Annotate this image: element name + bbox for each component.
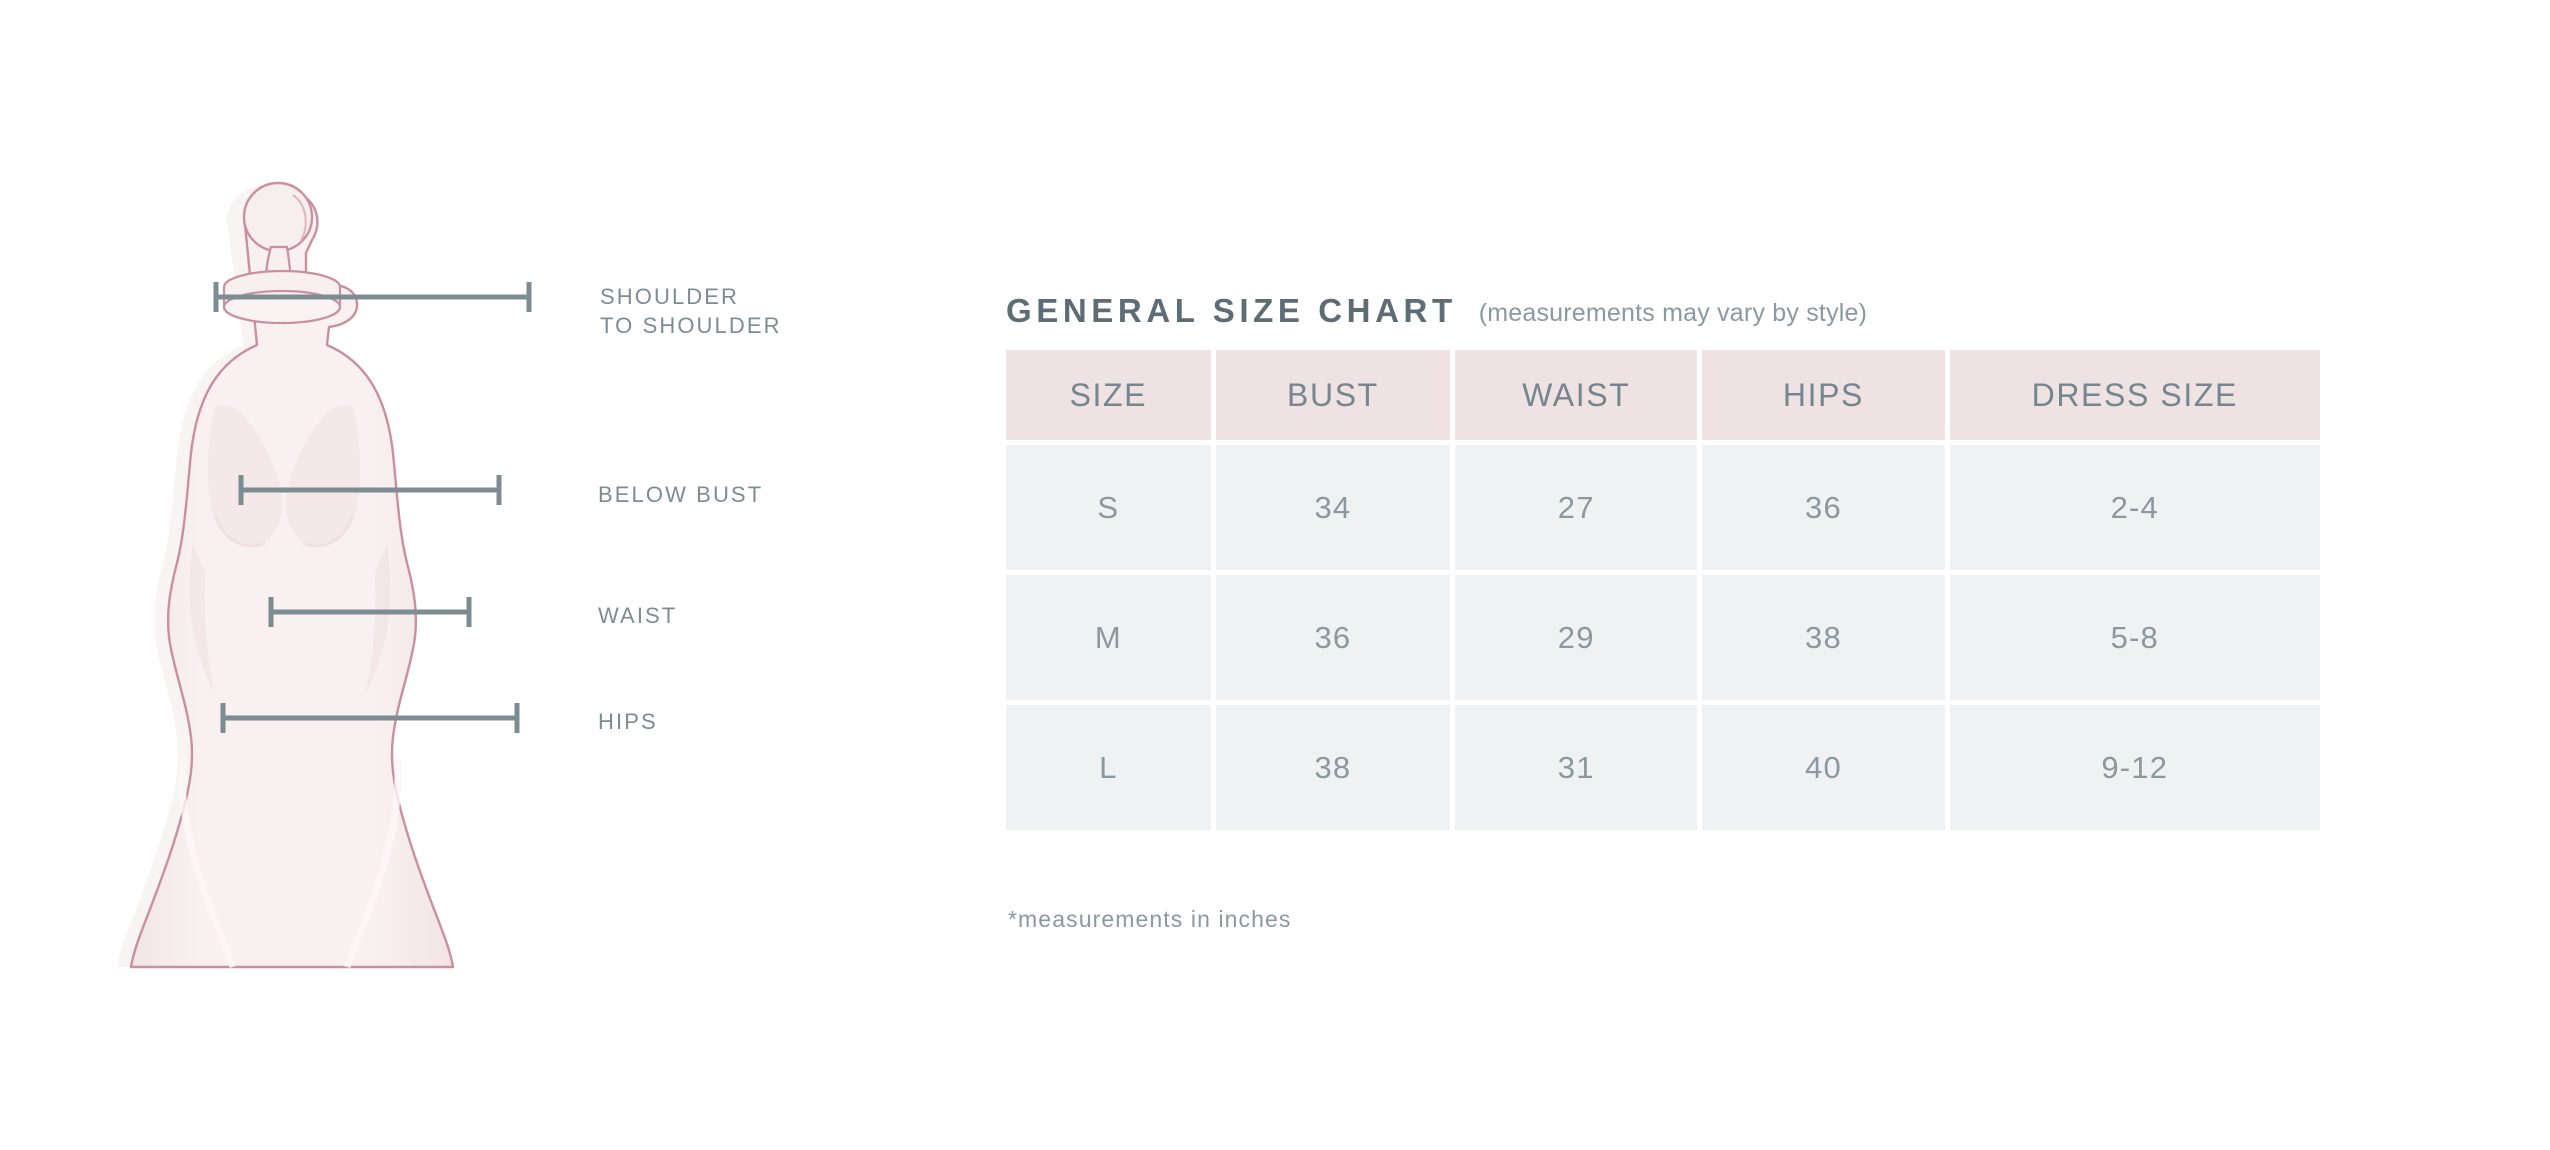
column-header-waist: WAIST — [1455, 350, 1697, 440]
cell-dress-size: 9-12 — [1950, 705, 2320, 830]
cell-hips: 36 — [1702, 445, 1944, 570]
cell-waist: 29 — [1455, 575, 1697, 700]
cell-size: M — [1006, 575, 1211, 700]
label-hips: HIPS — [598, 707, 658, 736]
cell-hips: 38 — [1702, 575, 1944, 700]
column-header-hips: HIPS — [1702, 350, 1944, 440]
column-header-dress-size: DRESS SIZE — [1950, 350, 2320, 440]
cell-bust: 34 — [1216, 445, 1450, 570]
measurement-diagram: SHOULDER TO SHOULDER BELOW BUST WAIST HI… — [0, 0, 980, 1150]
cell-waist: 27 — [1455, 445, 1697, 570]
size-chart-panel: GENERAL SIZE CHART (measurements may var… — [1006, 0, 2406, 1150]
cell-dress-size: 5-8 — [1950, 575, 2320, 700]
table-header-row: SIZE BUST WAIST HIPS DRESS SIZE — [1006, 350, 2320, 440]
page-title: GENERAL SIZE CHART — [1006, 292, 1457, 330]
size-chart-page: SHOULDER TO SHOULDER BELOW BUST WAIST HI… — [0, 0, 2550, 1150]
measurement-units-note: *measurements in inches — [1008, 906, 1292, 933]
size-chart-table: SIZE BUST WAIST HIPS DRESS SIZE S 34 27 … — [1001, 345, 2325, 835]
label-below-bust: BELOW BUST — [598, 480, 763, 509]
cell-size: L — [1006, 705, 1211, 830]
table-row: M 36 29 38 5-8 — [1006, 575, 2320, 700]
table-row: L 38 31 40 9-12 — [1006, 705, 2320, 830]
cell-bust: 36 — [1216, 575, 1450, 700]
table-row: S 34 27 36 2-4 — [1006, 445, 2320, 570]
cell-dress-size: 2-4 — [1950, 445, 2320, 570]
label-waist: WAIST — [598, 601, 677, 630]
cell-hips: 40 — [1702, 705, 1944, 830]
cell-size: S — [1006, 445, 1211, 570]
column-header-size: SIZE — [1006, 350, 1211, 440]
label-shoulder-to-shoulder: SHOULDER TO SHOULDER — [600, 282, 782, 340]
chart-subtitle: (measurements may vary by style) — [1479, 299, 1867, 328]
cell-waist: 31 — [1455, 705, 1697, 830]
column-header-bust: BUST — [1216, 350, 1450, 440]
dress-form-illustration — [95, 95, 655, 995]
chart-heading: GENERAL SIZE CHART (measurements may var… — [1006, 292, 1867, 330]
cell-bust: 38 — [1216, 705, 1450, 830]
